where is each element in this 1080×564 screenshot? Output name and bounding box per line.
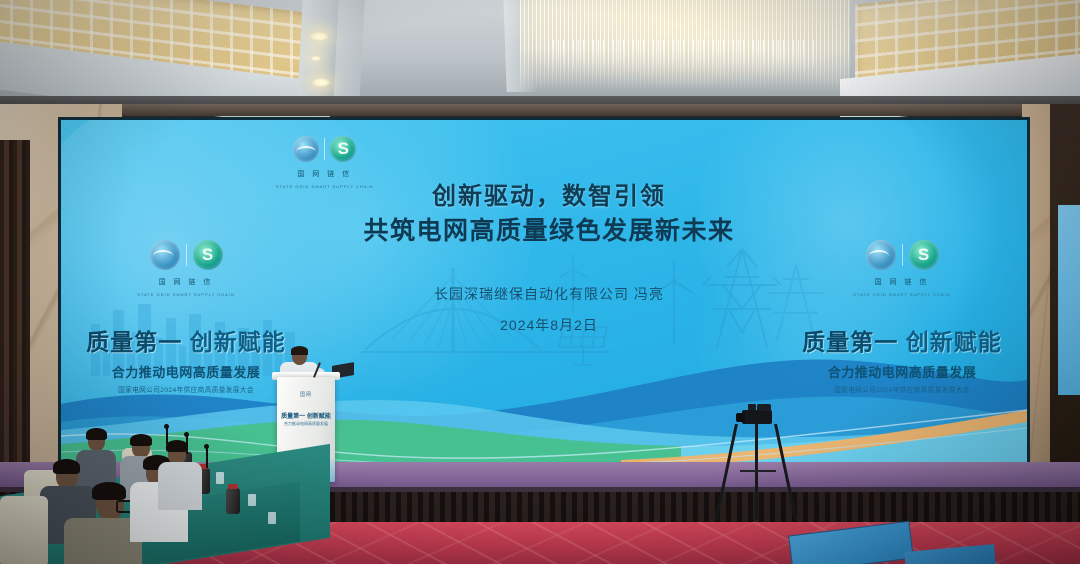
camera-hood — [757, 404, 771, 411]
chandelier-crystal-tips — [548, 40, 818, 74]
banner-headline-part1: 质量第一 — [86, 329, 182, 355]
logo-divider — [902, 244, 903, 266]
title-line-2: 共筑电网高质量绿色发展新未来 — [329, 214, 769, 250]
logo-divider — [324, 138, 325, 160]
curtain-left — [0, 140, 30, 470]
attendee-body — [158, 462, 202, 510]
tripod-brace — [740, 470, 776, 472]
water-glass — [216, 472, 224, 484]
water-glass — [248, 494, 256, 506]
downlight-icon — [311, 56, 321, 61]
banner-subline: 合力推动电网高质量发展 — [787, 362, 1017, 381]
thermos-cap — [228, 484, 238, 489]
banner-event-name: 国家电网公司2024年供应商高质量发展大会 — [793, 385, 1012, 395]
banner-event-name: 国家电网公司2024年供应商高质量发展大会 — [77, 385, 296, 395]
table-microphone — [206, 448, 208, 468]
date-line: 2024年8月2日 — [329, 315, 769, 335]
podium-headline: 质量第一 创新赋能 — [281, 411, 331, 420]
crystal-chandelier — [520, 0, 850, 92]
banner-left-logo: 国 网 链 信 STATE GRID SMART SUPPLY CHAIN — [71, 240, 301, 297]
ceiling — [0, 0, 1080, 108]
banner-headline: 质量第一 创新赋能 — [71, 323, 301, 357]
attendee-hair — [53, 459, 80, 474]
banner-headline-part2: 创新赋能 — [190, 329, 286, 355]
banner-subline: 合力推动电网高质量发展 — [71, 362, 301, 381]
podium-logo-text: 国网 — [300, 391, 312, 398]
ceiling-beam — [333, 0, 365, 108]
speaker-hair — [291, 346, 308, 355]
table-microphone-head — [204, 444, 209, 449]
state-grid-globe-icon — [293, 136, 319, 162]
state-grid-globe-icon — [150, 240, 180, 270]
conference-hall-photo: 国 网 链 信 STATE GRID SMART SUPPLY CHAIN 创新… — [0, 0, 1080, 564]
state-grid-globe-icon — [866, 240, 896, 270]
logo-divider — [186, 244, 187, 266]
logo-label-en: STATE GRID SMART SUPPLY CHAIN — [137, 292, 234, 297]
water-glass — [268, 512, 276, 524]
logo-label-en: STATE GRID SMART SUPPLY CHAIN — [853, 292, 950, 297]
attendee-hair — [130, 434, 152, 446]
chair — [0, 496, 48, 564]
logo-label-cn: 国 网 链 信 — [297, 169, 352, 179]
supply-chain-s-icon — [193, 240, 223, 270]
attendee-hair — [166, 440, 188, 452]
banner-right: 国 网 链 信 STATE GRID SMART SUPPLY CHAIN 质量… — [787, 240, 1017, 395]
video-camera — [742, 410, 772, 424]
banner-headline-part2: 创新赋能 — [906, 329, 1002, 355]
banner-headline-part1: 质量第一 — [802, 329, 898, 355]
downlight-icon — [310, 32, 328, 41]
supply-chain-s-icon — [330, 136, 356, 162]
logo-label-cn: 国 网 链 信 — [875, 277, 930, 287]
attendee-hair — [92, 482, 126, 500]
logo-label-cn: 国 网 链 信 — [159, 277, 214, 287]
supply-chain-s-icon — [909, 240, 939, 270]
title-line-1: 创新驱动，数智引领 — [329, 180, 769, 214]
banner-headline: 质量第一 创新赋能 — [787, 323, 1017, 357]
led-presentation-screen: 国 网 链 信 STATE GRID SMART SUPPLY CHAIN 创新… — [58, 117, 1030, 471]
banner-left: 国 网 链 信 STATE GRID SMART SUPPLY CHAIN 质量… — [71, 240, 301, 395]
table-microphone-head — [184, 432, 189, 437]
panel-far-right — [1058, 205, 1080, 395]
attendee-hair — [86, 428, 107, 440]
thermos-flask — [226, 488, 240, 514]
presenter-line: 长园深瑞继保自动化有限公司 冯亮 — [329, 284, 769, 304]
downlight-icon — [312, 78, 330, 87]
table-microphone-head — [164, 424, 169, 429]
presentation-title-block: 创新驱动，数智引领 共筑电网高质量绿色发展新未来 长园深瑞继保自动化有限公司 冯… — [329, 180, 769, 335]
banner-right-logo: 国 网 链 信 STATE GRID SMART SUPPLY CHAIN — [787, 240, 1017, 297]
camera-lens — [736, 413, 745, 422]
camera-viewfinder — [748, 404, 756, 410]
wall-top-trim — [0, 104, 1080, 116]
podium-subline: 合力推动电网高质量发展 — [284, 421, 328, 427]
